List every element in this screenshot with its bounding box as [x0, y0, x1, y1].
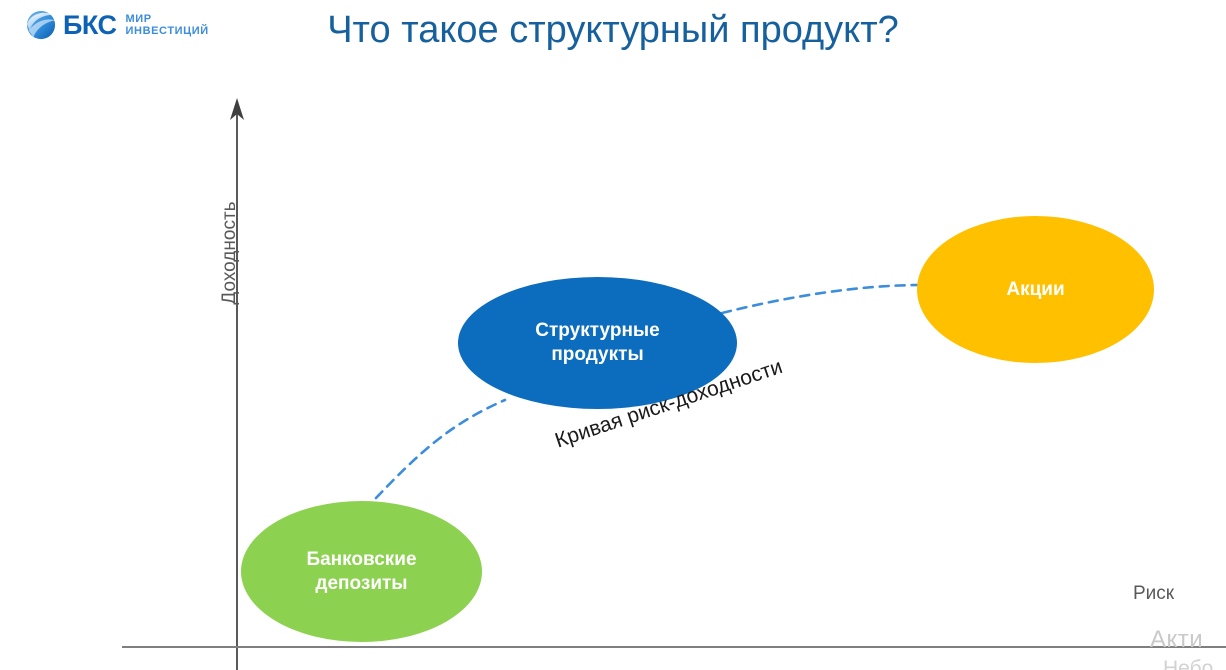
page-title: Что такое структурный продукт? — [0, 9, 1226, 52]
bubble-structured-products-line1: Структурные — [535, 319, 659, 343]
bubble-structured-products-label: Структурные продукты — [535, 319, 659, 367]
y-axis-label: Доходность — [219, 183, 241, 323]
footer-watermark-secondary: Небо — [1163, 657, 1213, 670]
bubble-bank-deposits-line2: депозиты — [306, 572, 416, 596]
bubble-bank-deposits[interactable]: Банковские депозиты — [241, 501, 482, 642]
bubble-bank-deposits-line1: Банковские — [306, 548, 416, 572]
bubble-stocks-label: Акции — [1006, 278, 1064, 302]
footer-watermark: Акти — [1150, 626, 1203, 654]
risk-return-curve-segment-right — [722, 285, 922, 313]
slide-canvas: БКС МИР ИНВЕСТИЦИЙ Что такое структурный… — [0, 0, 1226, 670]
risk-return-curve-segment-left — [376, 400, 505, 498]
x-axis-label: Риск — [1133, 583, 1174, 605]
bubble-structured-products-line2: продукты — [535, 343, 659, 367]
bubble-stocks[interactable]: Акции — [917, 216, 1154, 363]
bubble-bank-deposits-label: Банковские депозиты — [306, 548, 416, 596]
